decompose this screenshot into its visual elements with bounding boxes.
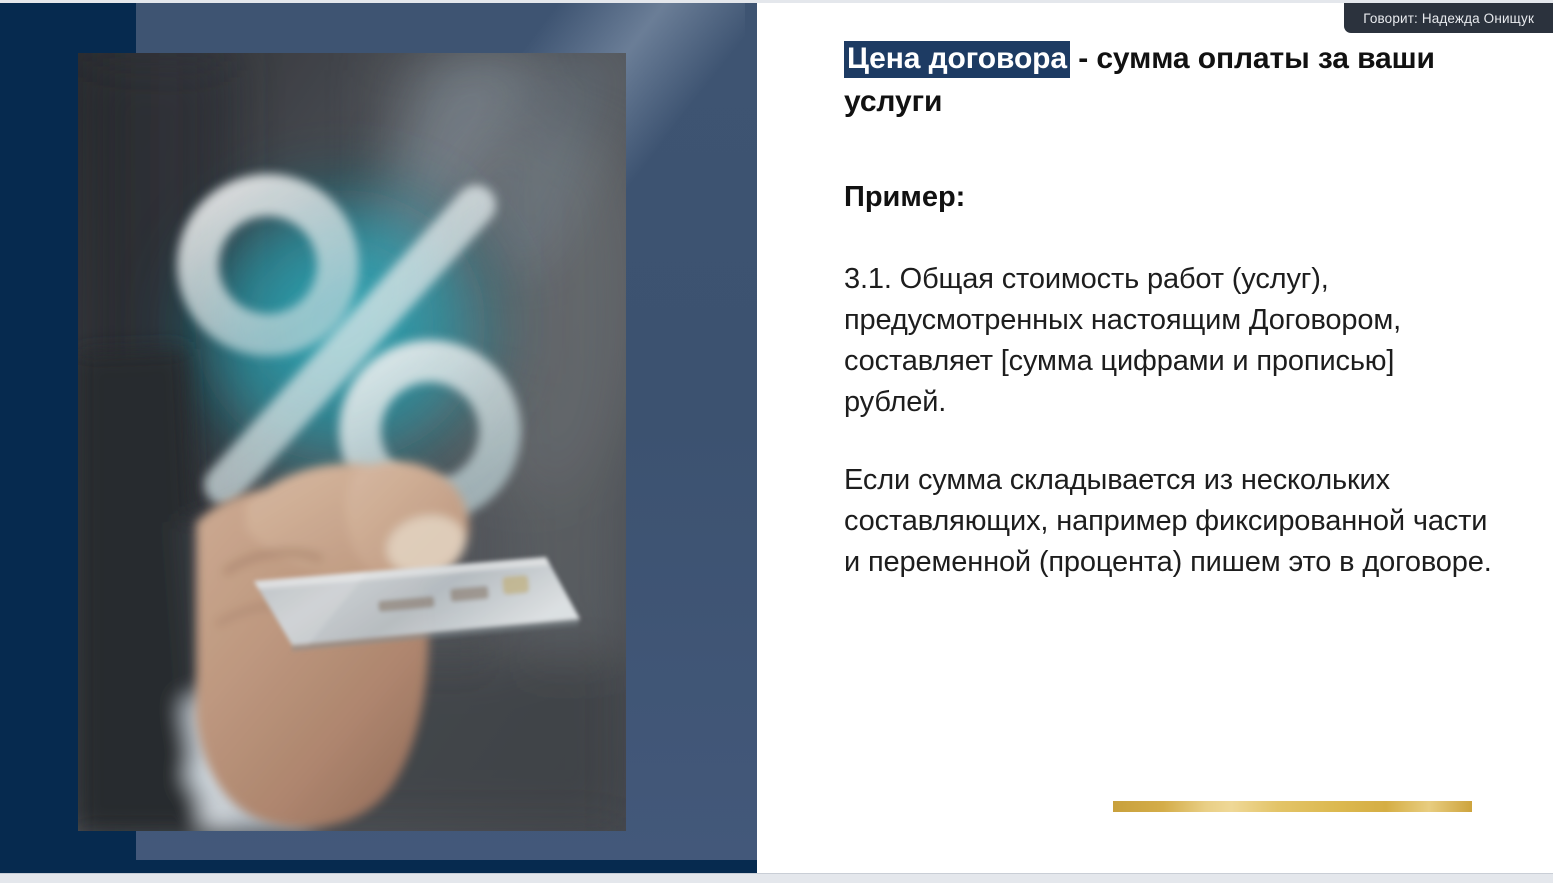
slide-image-half — [0, 3, 757, 873]
gold-accent-rule — [1113, 801, 1472, 812]
speaker-badge: Говорит: Надежда Онищук — [1344, 3, 1553, 33]
slide-photo — [78, 53, 626, 831]
slide-text-half: Цена договора - сумма оплаты за ваши усл… — [757, 3, 1553, 873]
photo-illustration — [78, 53, 626, 831]
slide-headline: Цена договора - сумма оплаты за ваши усл… — [844, 38, 1504, 123]
window-bottom-edge — [0, 873, 1553, 883]
screen: Цена договора - сумма оплаты за ваши усл… — [0, 0, 1553, 883]
headline-highlight: Цена договора — [844, 41, 1070, 78]
slide-text-block: Цена договора - сумма оплаты за ваши усл… — [844, 38, 1504, 612]
slide-paragraph-1: 3.1. Общая стоимость работ (услуг), пред… — [844, 259, 1504, 424]
speaker-badge-label: Говорит: Надежда Онищук — [1363, 11, 1534, 26]
slide-paragraph-2: Если сумма складывается из нескольких со… — [844, 460, 1504, 584]
slide-navy-footer-band — [0, 860, 757, 873]
slide-subheading: Пример: — [844, 179, 1504, 217]
